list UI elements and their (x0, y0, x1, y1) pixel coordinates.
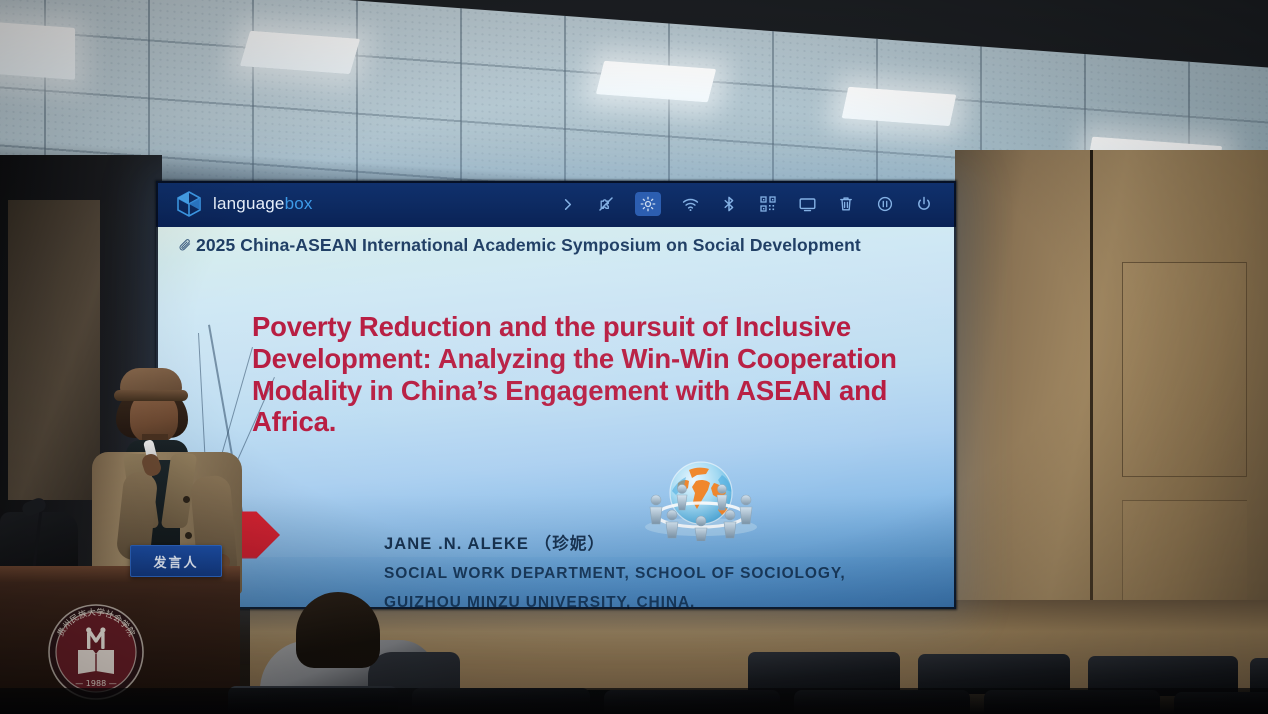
slide-header: 2025 China-ASEAN International Academic … (178, 235, 861, 258)
power-icon[interactable] (914, 194, 934, 214)
right-wall-seam (1090, 150, 1093, 670)
presenter-hat-brim (114, 390, 188, 401)
projection-screen: languagebox (156, 181, 956, 609)
coat-button (185, 532, 192, 539)
wifi-icon[interactable] (680, 194, 700, 214)
right-wall-recessed-panel (1122, 262, 1247, 477)
qr-code-icon[interactable] (758, 194, 778, 214)
speaker-nameplate: 发言人 (130, 545, 222, 577)
logo-word-primary: language (213, 194, 285, 213)
attendee-head (296, 592, 380, 668)
foreground-shadow (0, 688, 1268, 714)
globe-with-people-icon (626, 453, 776, 541)
gear-icon[interactable] (635, 192, 661, 216)
chevron-right-icon[interactable] (557, 194, 577, 214)
presentation-slide: 2025 China-ASEAN International Academic … (156, 227, 956, 609)
monitor-icon[interactable] (797, 194, 817, 214)
paperclip-icon (178, 237, 193, 258)
author-name: JANE .N. ALEKE （珍妮） (384, 530, 929, 554)
nameplate-text: 发言人 (153, 552, 198, 571)
app-toolbar (557, 192, 956, 216)
svg-text:— 1988 —: — 1988 — (75, 679, 116, 688)
puzzle-piece-off-icon[interactable] (596, 194, 616, 214)
cube-icon (174, 189, 204, 219)
caption-overlay (156, 557, 956, 609)
coat-button (183, 496, 190, 503)
slide-title: Poverty Reduction and the pursuit of Inc… (252, 311, 930, 438)
app-top-bar: languagebox (156, 181, 956, 227)
languagebox-logo: languagebox (156, 189, 313, 219)
lecture-hall-scene: languagebox (0, 0, 1268, 714)
logo-word-secondary: box (285, 194, 313, 213)
slide-header-text: 2025 China-ASEAN International Academic … (196, 235, 861, 256)
trash-icon[interactable] (836, 194, 856, 214)
pause-icon[interactable] (875, 194, 895, 214)
logo-wordmark: languagebox (213, 194, 313, 214)
bluetooth-icon[interactable] (719, 194, 739, 214)
